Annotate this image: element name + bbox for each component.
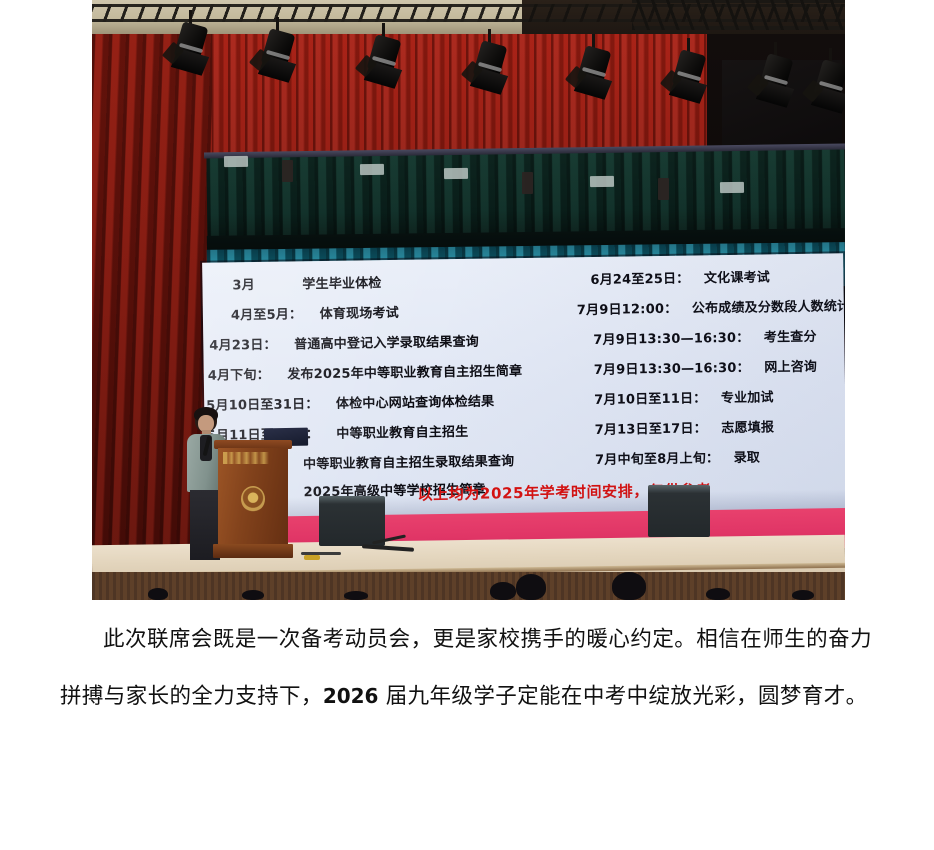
- floor-tape-marker: [304, 555, 320, 560]
- slide-right-date-6: 7月中旬至8月上旬：: [595, 451, 719, 468]
- stage-light-icon: [282, 160, 293, 182]
- stage-light-icon: [590, 176, 614, 187]
- slide-left-item-1: 体育现场考试: [320, 306, 399, 322]
- spotlight-icon: [676, 48, 702, 106]
- audience-head: [344, 591, 368, 600]
- article-body: 此次联席会既是一次备考动员会，更是家校携手的暖心约定。相信在师生的奋力拼搏与家长…: [0, 612, 934, 725]
- projection-screen: 3月 学生毕业体检 4月至5月： 体育现场考试 4月23日： 普通高中登记入学录…: [202, 253, 845, 520]
- audience-head: [490, 582, 516, 600]
- slide-left-item-0: 学生毕业体检: [302, 276, 381, 292]
- slide-left-item-3: 发布2025年中等职业教育自主招生简章: [287, 364, 522, 382]
- slide-right-date-3: 7月9日13:30—16:30：: [594, 361, 750, 378]
- stage-monitor-speaker: [319, 496, 385, 546]
- slide-right-item-1: 公布成绩及分数段人数统计: [692, 299, 845, 316]
- audience-head: [792, 590, 814, 600]
- podium: [214, 440, 292, 560]
- slide-left-date-0: 3月: [232, 278, 255, 293]
- slide-right-item-4: 专业加试: [721, 390, 774, 406]
- audience-head: [706, 588, 730, 600]
- spotlight-icon: [581, 44, 607, 102]
- audience-head: [242, 590, 264, 600]
- podium-school-name: [223, 452, 285, 464]
- slide-right-item-5: 志愿填报: [721, 420, 774, 436]
- slide-left-date-1: 4月至5月：: [231, 307, 303, 323]
- slide-right-item-6: 录取: [734, 451, 761, 466]
- stage-light-icon: [720, 182, 744, 193]
- spotlight-icon: [818, 58, 844, 116]
- slide-right-date-2: 7月9日13:30—16:30：: [593, 331, 749, 348]
- slide-content: 3月 学生毕业体检 4月至5月： 体育现场考试 4月23日： 普通高中登记入学录…: [202, 253, 845, 520]
- stage-light-icon: [522, 172, 533, 194]
- stage-light-icon: [360, 164, 384, 175]
- audience-head: [516, 574, 546, 600]
- spotlight-icon: [477, 39, 503, 97]
- article-year-2026: 2026: [323, 684, 379, 708]
- article-text-part2: 届九年级学子定能在中考中绽放光彩，圆梦育才。: [378, 684, 867, 709]
- slide-left-item-4: 体检中心网站查询体检结果: [336, 394, 495, 411]
- slide-right-item-0: 文化课考试: [704, 270, 770, 286]
- slide-left-date-2: 4月23日：: [209, 338, 277, 354]
- slide-right-date-4: 7月10日至11日：: [594, 391, 706, 408]
- lighting-truss-secondary: [632, 0, 845, 30]
- page-root: 3月 学生毕业体检 4月至5月： 体育现场考试 4月23日： 普通高中登记入学录…: [0, 0, 934, 850]
- slide-right-date-0: 6月24至25日：: [590, 272, 689, 288]
- school-emblem-icon: [241, 486, 265, 512]
- slide-right-item-2: 考生查分: [764, 330, 817, 346]
- spotlight-icon: [763, 52, 789, 110]
- stage-light-icon: [658, 178, 669, 200]
- spotlight-icon: [178, 20, 204, 78]
- stage-monitor-speaker: [648, 485, 710, 537]
- stage-light-icon: [224, 156, 248, 167]
- audience-head: [148, 588, 168, 600]
- slide-left-date-3: 4月下旬：: [208, 368, 270, 384]
- stage-light-icon: [444, 168, 468, 179]
- slide-right-date-5: 7月13日至17日：: [595, 421, 707, 438]
- stage-presentation-photo: 3月 学生毕业体检 4月至5月： 体育现场考试 4月23日： 普通高中登记入学录…: [92, 0, 845, 600]
- article-paragraph: 此次联席会既是一次备考动员会，更是家校携手的暖心约定。相信在师生的奋力拼搏与家长…: [0, 612, 934, 725]
- slide-right-item-3: 网上咨询: [764, 360, 817, 376]
- spotlight-icon: [371, 33, 397, 91]
- slide-left-item-6: 中等职业教育自主招生录取结果查询: [303, 454, 514, 472]
- stage-apron-panel: [92, 572, 845, 600]
- spotlight-icon: [265, 27, 291, 85]
- slide-right-date-1: 7月9日12:00：: [577, 302, 678, 318]
- slide-left-item-5: 中等职业教育自主招生: [336, 425, 468, 442]
- audience-head: [612, 572, 646, 600]
- slide-left-item-2: 普通高中登记入学录取结果查询: [294, 335, 479, 353]
